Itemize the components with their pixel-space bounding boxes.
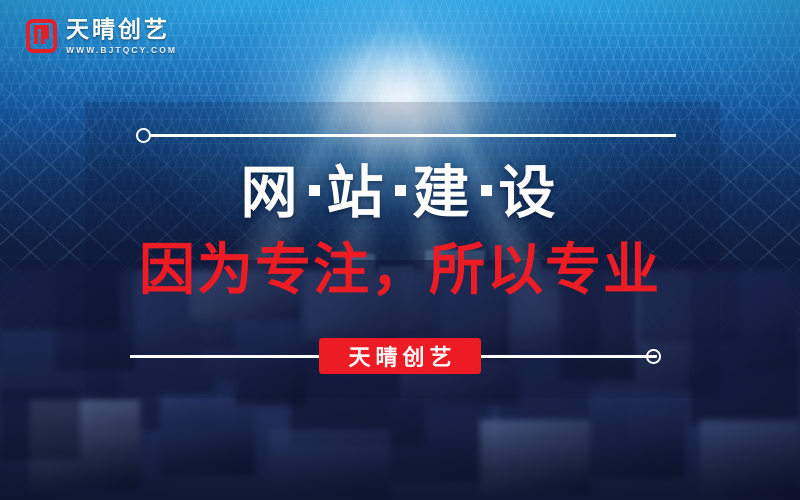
brand-logo[interactable]: 天晴创艺 WWW.BJTQCY.COM <box>26 17 177 55</box>
page-title: 网站建设 <box>0 165 800 222</box>
title-separator-dot-icon <box>309 185 320 196</box>
title-char: 站 <box>327 160 388 226</box>
title-char: 设 <box>499 160 560 226</box>
logo-company-name: 天晴创艺 <box>66 17 177 42</box>
tagline: 因为专注，所以专业 <box>0 243 800 299</box>
promo-banner: 天晴创艺 WWW.BJTQCY.COM 网站建设 因为专注，所以专业 天晴创艺 <box>0 0 800 500</box>
title-separator-dot-icon <box>481 185 492 196</box>
brand-badge: 天晴创艺 <box>319 338 481 374</box>
horizontal-rule-left <box>130 355 330 358</box>
horizontal-rule <box>150 134 676 137</box>
horizontal-rule-right <box>474 355 657 358</box>
title-separator-dot-icon <box>395 185 406 196</box>
logo-monogram-icon <box>26 19 57 53</box>
title-char: 建 <box>413 160 474 226</box>
logo-text-block: 天晴创艺 WWW.BJTQCY.COM <box>66 17 177 55</box>
circle-node-icon <box>136 128 151 143</box>
top-decor-rule <box>136 126 676 144</box>
logo-website-url: WWW.BJTQCY.COM <box>66 45 177 55</box>
circle-node-icon <box>646 349 661 364</box>
title-char: 网 <box>241 160 302 226</box>
